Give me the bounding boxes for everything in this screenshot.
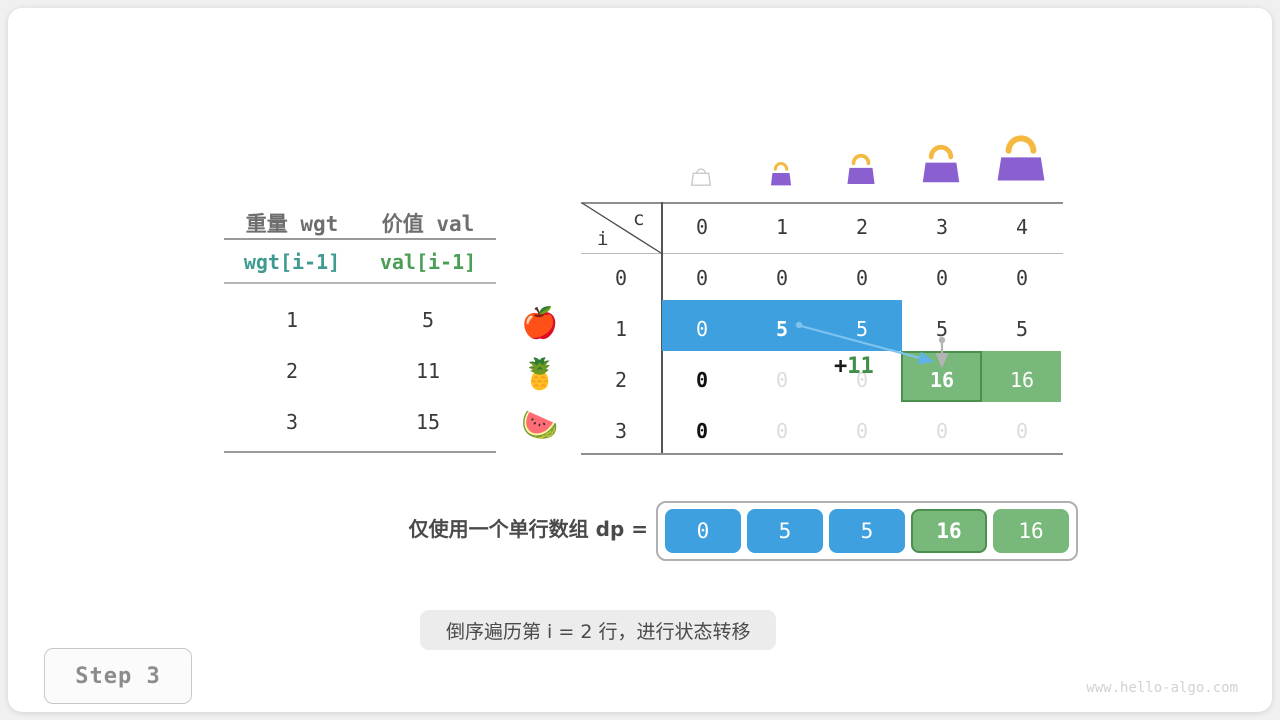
cell-1-2: 5 <box>822 317 902 341</box>
bag-size-3-icon <box>901 130 981 192</box>
left-table-rule-top <box>224 238 496 240</box>
cell-2-1: 0 <box>742 368 822 392</box>
row-header-0: 0 <box>591 266 651 290</box>
cell-3-4: 0 <box>982 419 1062 443</box>
cell-0-0: 0 <box>662 266 742 290</box>
wgt-row-2: 2 <box>224 359 360 383</box>
cell-2-4: 16 <box>982 368 1062 392</box>
pineapple-emoji: 🍍 <box>516 360 564 390</box>
bag-size-0-icon <box>661 130 741 192</box>
step-badge: Step 3 <box>44 648 192 704</box>
col-header-2: 2 <box>822 215 902 239</box>
dp-cell-0[interactable]: 0 <box>665 509 741 553</box>
bag-size-1-icon <box>741 130 821 192</box>
dp-cell-4[interactable]: 16 <box>993 509 1069 553</box>
cell-1-4: 5 <box>982 317 1062 341</box>
val-row-2: 11 <box>360 359 496 383</box>
value-increment-annotation: +11 <box>834 354 874 379</box>
cell-0-3: 0 <box>902 266 982 290</box>
transition-arrows <box>8 8 1272 712</box>
cell-0-4: 0 <box>982 266 1062 290</box>
val-row-3: 15 <box>360 410 496 434</box>
cell-1-3: 5 <box>902 317 982 341</box>
wgt-row-3: 3 <box>224 410 360 434</box>
step-caption: 倒序遍历第 i = 2 行，进行状态转移 <box>420 610 776 650</box>
cell-0-2: 0 <box>822 266 902 290</box>
cell-3-3: 0 <box>902 419 982 443</box>
col-header-3: 3 <box>902 215 982 239</box>
weights-values-table: 重量 wgt 价值 val wgt[i-1] val[i-1] 1 5 2 11… <box>224 198 496 453</box>
matrix-rule-bottom <box>581 453 1063 455</box>
corner-diagonal <box>581 202 662 254</box>
slide-card: 重量 wgt 价值 val wgt[i-1] val[i-1] 1 5 2 11… <box>8 8 1272 712</box>
dp-array-label: 仅使用一个单行数组 dp = <box>338 513 648 542</box>
wgt-row-1: 1 <box>224 308 360 332</box>
subheader-wgt: wgt[i-1] <box>224 250 360 274</box>
apple-emoji: 🍎 <box>516 309 564 339</box>
dp-cell-2[interactable]: 5 <box>829 509 905 553</box>
increment-value: 11 <box>847 354 874 379</box>
header-weight: 重量 wgt <box>224 208 360 238</box>
subheader-val: val[i-1] <box>360 250 496 274</box>
left-table-rule-mid <box>224 282 496 284</box>
dp-array: 0 5 5 16 16 <box>656 501 1078 561</box>
dp-cell-3[interactable]: 16 <box>911 509 987 553</box>
row-header-3: 3 <box>591 419 651 443</box>
row-header-2: 2 <box>591 368 651 392</box>
cell-3-1: 0 <box>742 419 822 443</box>
val-row-1: 5 <box>360 308 496 332</box>
col-header-0: 0 <box>662 215 742 239</box>
cell-1-1: 5 <box>742 317 822 341</box>
bag-size-4-icon <box>981 130 1061 192</box>
cell-3-0: 0 <box>662 419 742 443</box>
cell-2-3: 16 <box>902 368 982 392</box>
dp-cell-1[interactable]: 5 <box>747 509 823 553</box>
col-header-4: 4 <box>982 215 1062 239</box>
increment-sign: + <box>834 354 847 379</box>
watermelon-emoji: 🍉 <box>516 411 564 441</box>
corner-label-c: c <box>633 208 644 230</box>
corner-label-i: i <box>597 228 608 250</box>
header-value: 价值 val <box>360 208 496 238</box>
col-header-1: 1 <box>742 215 822 239</box>
cell-2-0: 0 <box>662 368 742 392</box>
left-table-rule-bottom <box>224 451 496 453</box>
cell-3-2: 0 <box>822 419 902 443</box>
cell-0-1: 0 <box>742 266 822 290</box>
row-header-1: 1 <box>591 317 651 341</box>
bag-size-2-icon <box>821 130 901 192</box>
cell-1-0: 0 <box>662 317 742 341</box>
watermark: www.hello-algo.com <box>1086 680 1238 696</box>
